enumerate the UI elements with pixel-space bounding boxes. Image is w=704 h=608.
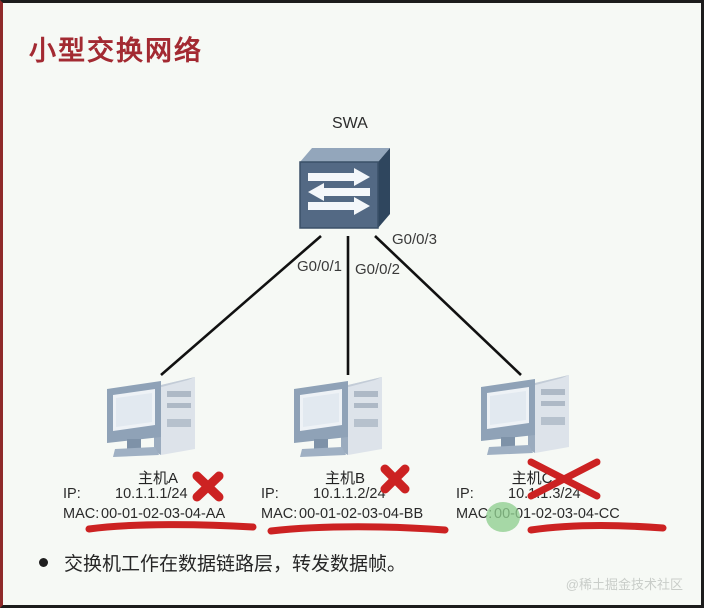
host-a-mac-value: 00-01-02-03-04-AA: [101, 506, 225, 522]
host-c-info: IP:10.1.1.3/24 MAC:00-01-02-03-04-CC: [456, 484, 620, 524]
network-switch-icon[interactable]: [294, 140, 394, 238]
watermark: @稀土掘金技术社区: [566, 574, 683, 593]
bullet-text: 交换机工作在数据链路层，转发数据帧。: [64, 554, 406, 575]
host-b-ip-value: 10.1.1.2/24: [313, 486, 386, 502]
slide-canvas: 小型交换网络 SWA G0/0/1 G0/0/2 G0/0/3: [0, 0, 704, 608]
host-c-ip-value: 10.1.1.3/24: [508, 486, 581, 502]
crt-monitor: [481, 379, 535, 455]
host-b-info: IP:10.1.1.2/24 MAC:00-01-02-03-04-BB: [261, 484, 423, 524]
underline-host-b-mac: [271, 527, 445, 531]
host-c-mac-value: 00-01-02-03-04-CC: [494, 506, 620, 522]
host-c-computer-icon[interactable]: [473, 361, 591, 461]
switch-arrow-group: [308, 168, 370, 215]
link-line-g0-0-1: [161, 236, 321, 375]
host-b-mac-row: MAC:00-01-02-03-04-BB: [261, 504, 423, 524]
host-b-computer-icon[interactable]: [286, 363, 404, 463]
host-a-ip-row: IP:10.1.1.1/24: [63, 484, 225, 504]
crt-monitor: [107, 381, 161, 457]
host-b-mac-value: 00-01-02-03-04-BB: [299, 506, 423, 522]
bullet-statement: 交换机工作在数据链路层，转发数据帧。: [39, 549, 406, 576]
bullet-dot-icon: [39, 558, 48, 567]
underline-host-a-mac: [89, 525, 253, 529]
host-a-mac-row: MAC:00-01-02-03-04-AA: [63, 504, 225, 524]
host-b-ip-key: IP:: [261, 484, 299, 504]
crt-monitor: [294, 381, 348, 457]
host-a-ip-value: 10.1.1.1/24: [115, 486, 188, 502]
host-a-computer-icon[interactable]: [99, 363, 217, 463]
port-label-g0-0-2: G0/0/2: [355, 261, 400, 278]
host-c-ip-row: IP:10.1.1.3/24: [456, 484, 620, 504]
underline-host-c-mac: [531, 526, 663, 530]
host-c-mac-row: MAC:00-01-02-03-04-CC: [456, 504, 620, 524]
link-line-g0-0-3: [375, 236, 521, 375]
host-b-ip-row: IP:10.1.1.2/24: [261, 484, 423, 504]
port-label-g0-0-3: G0/0/3: [392, 231, 437, 248]
host-a-ip-key: IP:: [63, 484, 101, 504]
host-c-mac-key: MAC:: [456, 504, 494, 524]
host-c-ip-key: IP:: [456, 484, 494, 504]
host-a-mac-key: MAC:: [63, 504, 101, 524]
page-title: 小型交换网络: [29, 29, 203, 68]
host-a-info: IP:10.1.1.1/24 MAC:00-01-02-03-04-AA: [63, 484, 225, 524]
switch-label: SWA: [332, 115, 368, 133]
port-label-g0-0-1: G0/0/1: [297, 258, 342, 275]
host-b-mac-key: MAC:: [261, 504, 299, 524]
